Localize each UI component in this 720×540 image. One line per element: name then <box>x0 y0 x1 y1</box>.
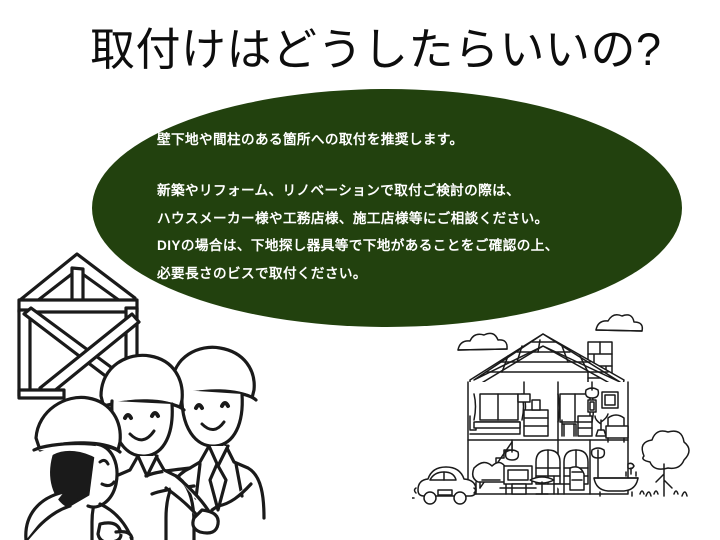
callout-line-1: 壁下地や間柱のある箇所への取付を推奨します。 <box>157 126 657 153</box>
house-cutaway-illustration <box>412 312 712 524</box>
tree-icon <box>642 431 689 496</box>
cloud-icon-left <box>458 333 507 350</box>
callout-line-3: ハウスメーカー様や工務店様、施工店様等にご相談ください。 <box>157 205 657 232</box>
construction-workers-illustration <box>4 248 266 540</box>
callout-line-2: 新築やリフォーム、リノベーションで取付ご検討の際は、 <box>157 177 657 204</box>
worker-front-icon <box>26 397 132 540</box>
water-pipe-icon <box>570 467 584 490</box>
car-icon <box>415 467 477 504</box>
page-title: 取付けはどうしたらいいの? <box>90 22 690 78</box>
slide-canvas: 取付けはどうしたらいいの? 壁下地や間柱のある箇所への取付を推奨します。 新築や… <box>0 0 720 540</box>
cloud-icon-right <box>596 315 642 331</box>
callout-paragraph-gap <box>157 153 657 177</box>
